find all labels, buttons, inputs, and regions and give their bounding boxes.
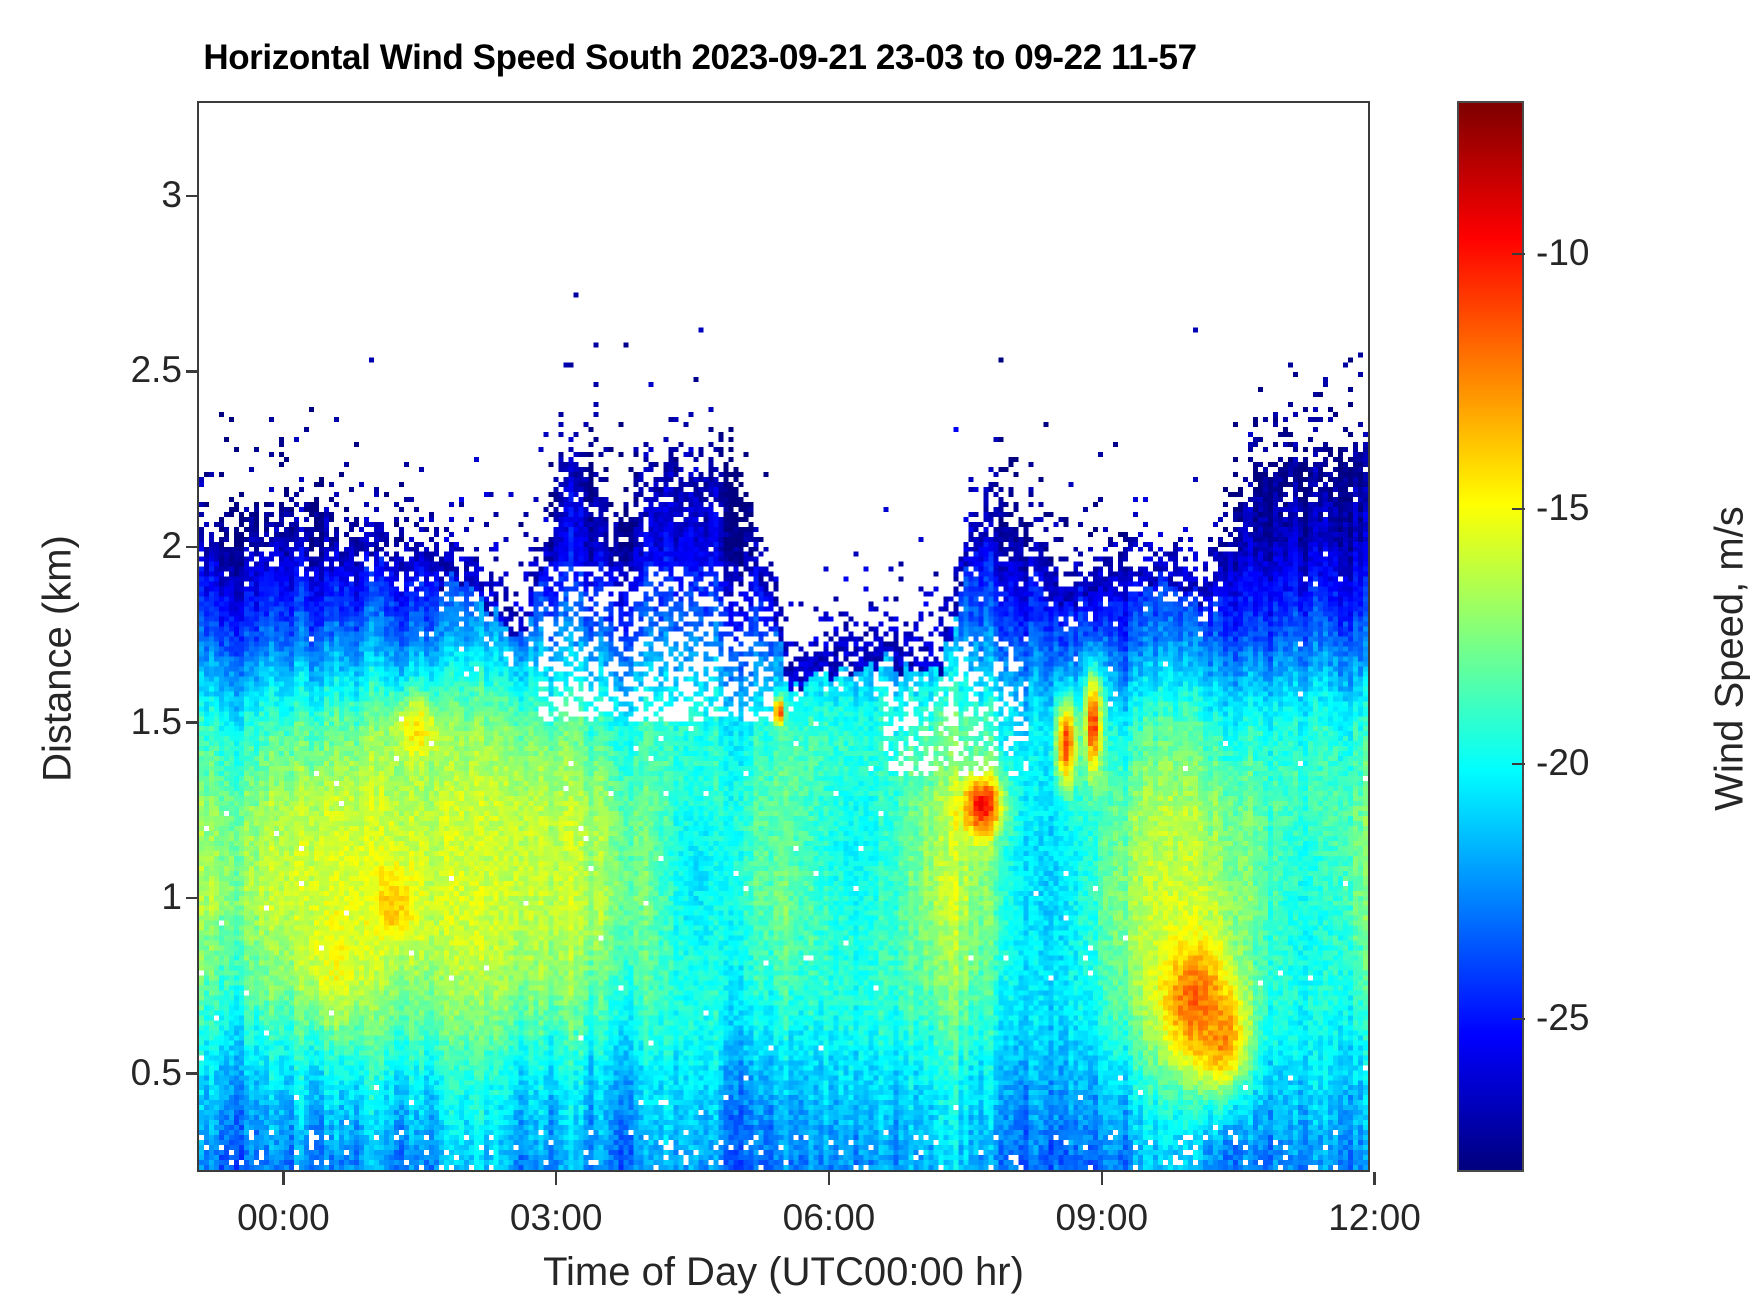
x-tick-label: 00:00 <box>237 1198 330 1238</box>
colorbar-tick-mark <box>1512 1018 1525 1021</box>
heatmap-image <box>199 103 1368 1170</box>
colorbar-label: Wind Speed, m/s <box>1708 309 1750 1009</box>
y-axis-label: Distance (km) <box>36 309 81 1009</box>
x-tick-mark <box>828 1172 831 1185</box>
colorbar-tick-label: -10 <box>1536 234 1589 271</box>
y-tick-mark <box>186 897 198 900</box>
x-tick-mark <box>1373 1172 1376 1185</box>
colorbar-tick-label: -25 <box>1536 999 1589 1036</box>
colorbar-tick-mark <box>1512 253 1525 256</box>
x-axis-label: Time of Day (UTC00:00 hr) <box>197 1250 1370 1295</box>
x-tick-label: 12:00 <box>1328 1198 1421 1238</box>
y-tick-mark <box>186 721 198 724</box>
y-tick-label: 2 <box>161 527 182 564</box>
y-tick-mark <box>186 195 198 198</box>
y-tick-label: 0.5 <box>131 1054 182 1091</box>
y-tick-mark <box>186 546 198 549</box>
y-tick-label: 1 <box>161 878 182 915</box>
colorbar <box>1457 101 1524 1172</box>
heatmap-plot-area <box>197 101 1370 1172</box>
colorbar-tick-label: -15 <box>1536 489 1589 526</box>
colorbar-gradient <box>1457 101 1524 1172</box>
x-tick-label: 06:00 <box>783 1198 876 1238</box>
colorbar-tick-mark <box>1512 763 1525 766</box>
x-tick-label: 09:00 <box>1055 1198 1148 1238</box>
x-tick-mark <box>1101 1172 1104 1185</box>
y-tick-label: 3 <box>161 176 182 213</box>
y-tick-mark <box>186 1072 198 1075</box>
chart-title: Horizontal Wind Speed South 2023-09-21 2… <box>0 38 1400 78</box>
figure-root: Horizontal Wind Speed South 2023-09-21 2… <box>0 0 1750 1313</box>
y-tick-mark <box>186 370 198 373</box>
x-tick-label: 03:00 <box>510 1198 603 1238</box>
colorbar-tick-mark <box>1512 508 1525 511</box>
y-tick-label: 2.5 <box>131 351 182 388</box>
colorbar-tick-label: -20 <box>1536 744 1589 781</box>
y-tick-label: 1.5 <box>131 703 182 740</box>
x-tick-mark <box>282 1172 285 1185</box>
x-tick-mark <box>555 1172 558 1185</box>
